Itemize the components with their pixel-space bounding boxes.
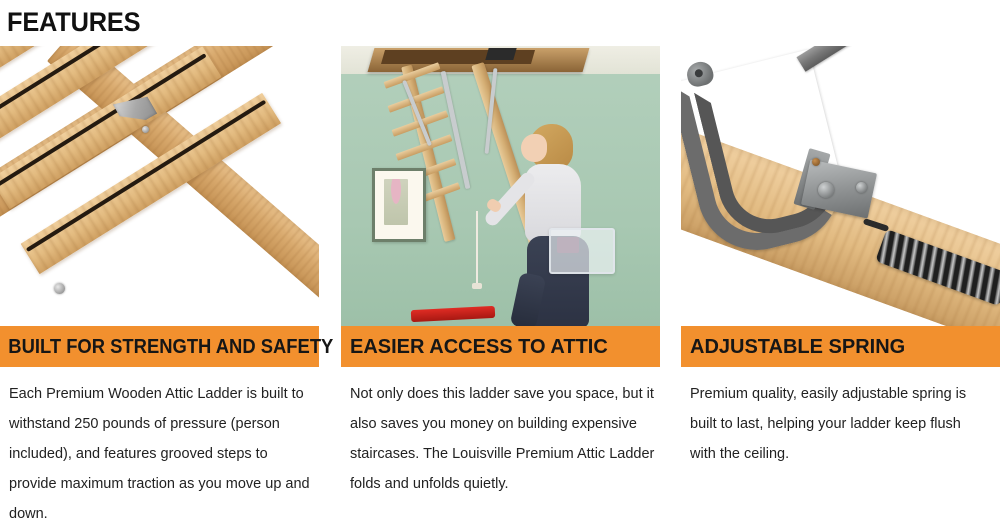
person-climbing-ladder <box>491 124 611 326</box>
attic-ladder-scene-illustration <box>341 46 660 326</box>
features-section: FEATURES BUILT FOR STRENGTH AND SAFETY <box>0 0 1000 499</box>
feature-image-1 <box>0 46 319 326</box>
feature-body-3: Premium quality, easily adjustable sprin… <box>690 379 982 469</box>
wooden-ladder-illustration <box>0 46 319 326</box>
attic-panel <box>485 48 516 60</box>
rivet-icon <box>812 158 820 166</box>
screw-icon <box>54 283 65 294</box>
feature-card-1: BUILT FOR STRENGTH AND SAFETY Each Premi… <box>0 46 319 499</box>
feature-body-1: Each Premium Wooden Attic Ladder is buil… <box>9 379 314 529</box>
feature-columns: BUILT FOR STRENGTH AND SAFETY Each Premi… <box>0 46 1000 499</box>
feature-image-3 <box>681 46 1000 326</box>
feature-body-2: Not only does this ladder save you space… <box>350 379 655 499</box>
pull-cord-handle <box>472 283 482 289</box>
ladder-rung <box>384 62 441 88</box>
pull-cord <box>476 211 478 283</box>
feature-card-2: EASIER ACCESS TO ATTIC Not only does thi… <box>341 46 660 499</box>
feature-banner-label-1: BUILT FOR STRENGTH AND SAFETY <box>0 336 333 358</box>
feature-banner-label-3: ADJUSTABLE SPRING <box>681 336 905 358</box>
ladder-rung <box>396 134 453 160</box>
feature-card-3: ADJUSTABLE SPRING Premium quality, easil… <box>681 46 1000 499</box>
page-title: FEATURES <box>7 6 140 38</box>
feature-banner-1: BUILT FOR STRENGTH AND SAFETY <box>0 326 319 367</box>
feature-banner-label-2: EASIER ACCESS TO ATTIC <box>341 336 608 358</box>
spring-hinge-illustration <box>681 46 1000 326</box>
person-face <box>521 134 547 162</box>
feature-banner-2: EASIER ACCESS TO ATTIC <box>341 326 660 367</box>
metal-bar <box>796 46 1000 72</box>
rivet-icon <box>856 182 867 193</box>
storage-bin <box>549 228 615 274</box>
wall-framed-picture <box>372 168 426 242</box>
screw-icon <box>142 126 149 133</box>
feature-banner-3: ADJUSTABLE SPRING <box>681 326 1000 367</box>
rivet-icon <box>818 182 834 198</box>
feature-image-2 <box>341 46 660 326</box>
